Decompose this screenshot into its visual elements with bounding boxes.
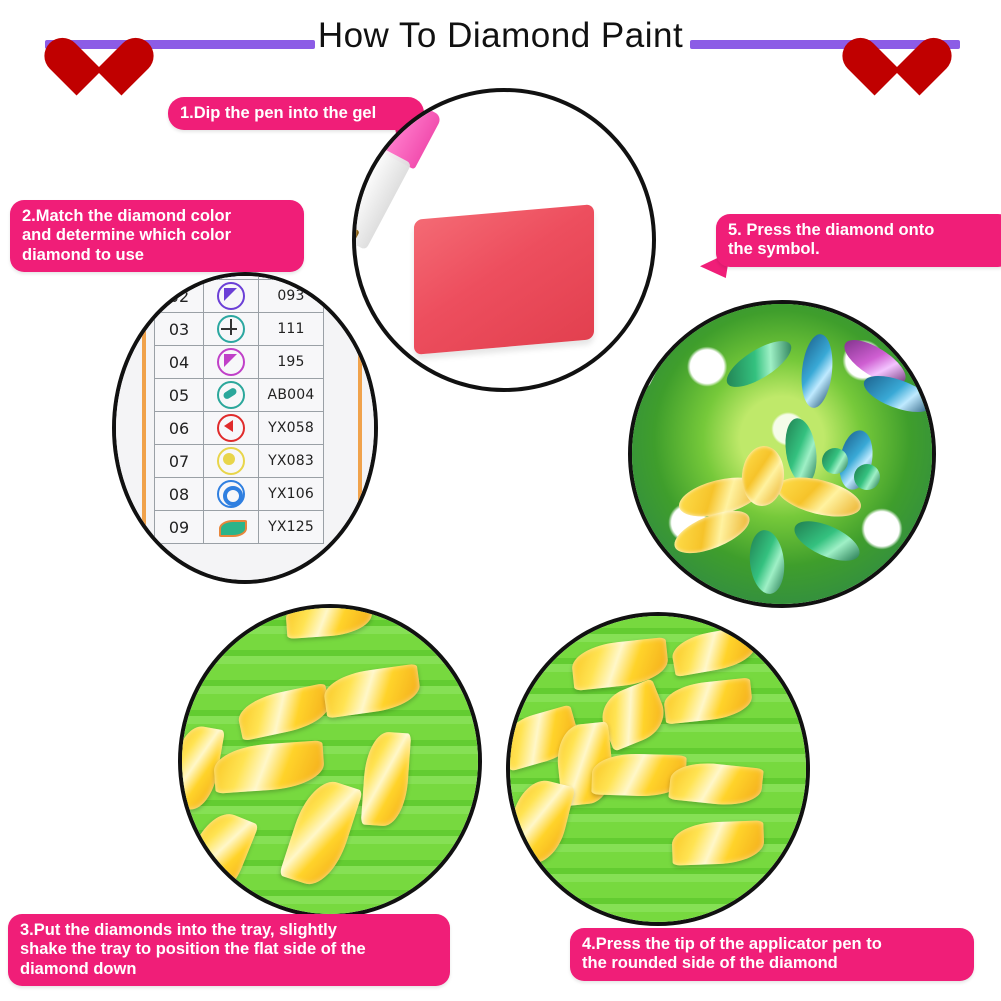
color-row-code: 020 [259,272,324,280]
color-table-row: 09YX125 [155,511,324,544]
color-row-symbol [204,445,259,478]
color-row-number: 04 [155,346,204,379]
step-4-photo-pen-pickup [506,612,810,926]
color-chart-sheet: 02002093031110419505AB00406YX05807YX0830… [112,272,378,584]
step-5-label-line-2: the symbol. [728,240,1000,259]
diamond-bead [322,664,423,719]
color-row-symbol [204,346,259,379]
step-5-photo-press-onto-symbol [628,300,936,608]
dot-glyph [223,453,235,465]
oval-glyph [222,387,238,400]
color-row-symbol [204,280,259,313]
diamond-bead [668,759,764,808]
color-row-code: YX125 [259,511,324,544]
gem-teal [798,333,836,410]
wedge-glyph [224,354,237,367]
color-row-code: 111 [259,313,324,346]
color-row-number: 03 [155,313,204,346]
chart-margin-stripe [358,272,362,584]
canvas-mandala-artwork [628,300,936,608]
filled-dot-circle-icon [217,447,245,475]
color-row-symbol [204,511,259,544]
step-1-photo-gel-dip [352,88,656,392]
ring-glyph [223,486,243,506]
gem-green [789,513,865,569]
color-row-code: 093 [259,280,324,313]
color-table-row: 02093 [155,280,324,313]
color-row-number: 05 [155,379,204,412]
color-row-symbol [204,313,259,346]
diamond-tray [506,612,810,926]
pen-body [506,612,570,663]
step-2-photo-color-chart: 02002093031110419505AB00406YX05807YX0830… [112,272,378,584]
diamond-bead [570,637,670,691]
color-row-symbol [204,272,259,280]
diamond-bead [669,625,758,677]
color-row-code: AB004 [259,379,324,412]
diamond-bead [285,604,374,639]
step-4-label: 4.Press the tip of the applicator pen to… [570,928,974,981]
color-table-row: 03111 [155,313,324,346]
color-code-table: 02002093031110419505AB00406YX05807YX0830… [154,272,324,544]
diamond-bead [235,683,333,741]
plus-glyph [221,328,237,330]
step-3-label: 3.Put the diamonds into the tray, slight… [8,914,450,986]
gem-round-green [854,464,880,490]
color-row-symbol [204,379,259,412]
gem-round-green [822,448,848,474]
triangle-wedge-circle-icon [217,348,245,376]
diamond-bead [279,774,363,891]
gem-green [782,416,821,486]
quarter-wedge-circle-icon [217,282,245,310]
diamond-bead [361,731,411,828]
color-table-row: 07YX083 [155,445,324,478]
step-5-label: 5. Press the diamond onto the symbol. [716,214,1001,267]
arrow-glyph [224,420,233,432]
color-row-number: 07 [155,445,204,478]
step-3-label-line-3: diamond down [20,960,438,979]
color-row-code: 195 [259,346,324,379]
color-row-symbol [204,478,259,511]
ring-circle-icon [217,480,245,508]
step-2-label-line-2: and determine which color [22,226,292,245]
diamond-tray [178,604,482,918]
color-row-code: YX058 [259,412,324,445]
color-table-row: 04195 [155,346,324,379]
step-3-label-line-1: 3.Put the diamonds into the tray, slight… [20,921,438,940]
leaf-lens-icon [219,515,243,539]
color-row-number: 02 [155,280,204,313]
diamond-bead [213,740,326,794]
step-2-label: 2.Match the diamond color and determine … [10,200,304,272]
color-row-number: 06 [155,412,204,445]
diamond-bead [506,775,575,870]
color-table-row: 05AB004 [155,379,324,412]
diamond-bead [178,806,259,909]
step-5-label-line-1: 5. Press the diamond onto [728,221,1000,240]
color-row-number: 08 [155,478,204,511]
left-arrow-circle-icon [217,414,245,442]
gel-pad [414,204,594,355]
color-row-code: YX083 [259,445,324,478]
plus-circle-icon [217,315,245,343]
step-3-label-line-2: shake the tray to position the flat side… [20,940,438,959]
step-2-label-line-3: diamond to use [22,246,292,265]
gem-green [747,528,788,595]
wedge-glyph [224,288,237,301]
color-row-number: 09 [155,511,204,544]
chart-margin-stripe [142,272,146,584]
color-row-code: YX106 [259,478,324,511]
gem-green [720,333,798,396]
page-title: How To Diamond Paint [0,16,1001,56]
plus-glyph [230,319,232,335]
page-header: How To Diamond Paint [0,0,1001,82]
color-table-row: 020 [155,272,324,280]
step-3-photo-diamond-tray [178,604,482,918]
step-2-label-line-1: 2.Match the diamond color [22,207,292,226]
leaf-glyph [219,520,247,537]
step-4-label-line-2: the rounded side of the diamond [582,954,962,973]
double-dot-circle-icon [217,272,245,277]
diamond-bead [662,678,753,725]
color-table-row: 08YX106 [155,478,324,511]
gem-yellow-under-pen [740,445,786,508]
slash-oval-circle-icon [217,381,245,409]
step-4-label-line-1: 4.Press the tip of the applicator pen to [582,935,962,954]
color-table-row: 06YX058 [155,412,324,445]
color-row-number [155,272,204,280]
color-row-symbol [204,412,259,445]
applicator-pen [628,300,699,471]
diamond-bead [671,820,764,865]
